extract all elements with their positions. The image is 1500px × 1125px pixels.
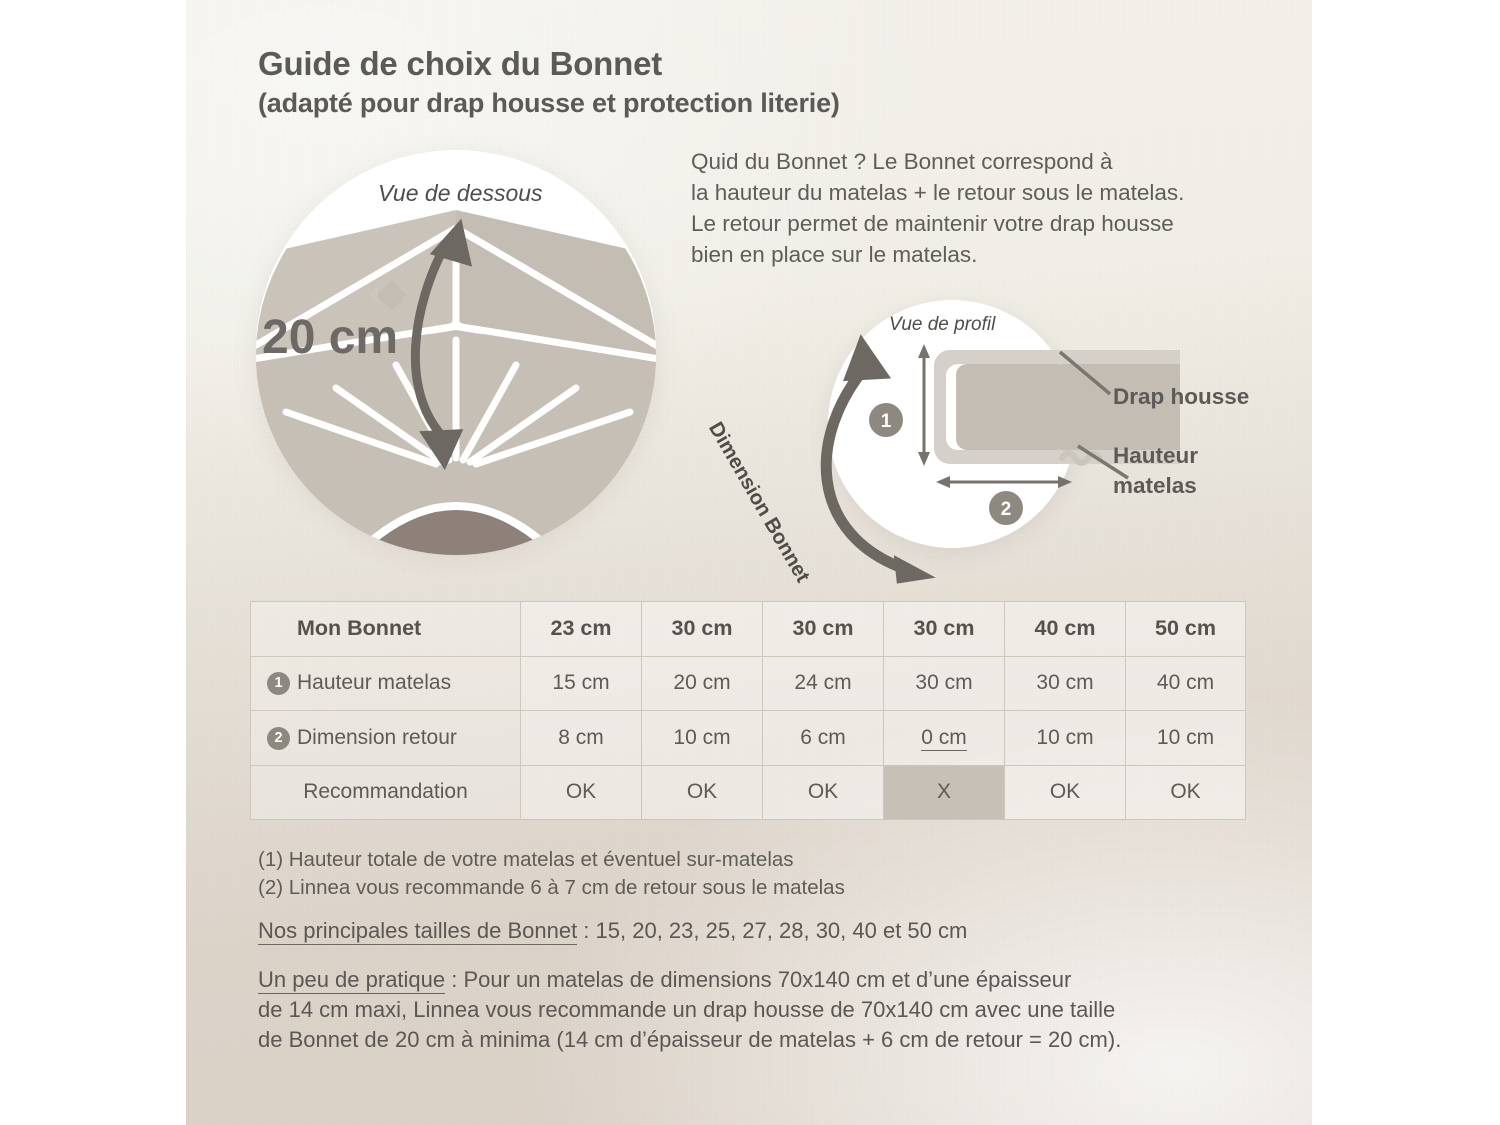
cell-bonnet-2: 30 cm: [642, 602, 763, 657]
bonnet-size-table: Mon Bonnet 23 cm 30 cm 30 cm 30 cm 40 cm…: [250, 601, 1246, 820]
cell-retour-1: 8 cm: [521, 711, 642, 766]
page-title: Guide de choix du Bonnet: [258, 45, 1058, 83]
practice-line-2: de 14 cm maxi, Linnea vous recommande un…: [258, 995, 1248, 1025]
practice-label: Un peu de pratique: [258, 967, 445, 994]
sizes-value: : 15, 20, 23, 25, 27, 28, 30, 40 et 50 c…: [577, 918, 967, 943]
cell-reco-1: OK: [521, 765, 642, 820]
cell-hauteur-5: 30 cm: [1005, 656, 1126, 711]
cell-bonnet-4: 30 cm: [884, 602, 1005, 657]
cell-hauteur-1: 15 cm: [521, 656, 642, 711]
cell-retour-6: 10 cm: [1126, 711, 1246, 766]
sizes-line: Nos principales tailles de Bonnet : 15, …: [258, 918, 967, 944]
cell-retour-5: 10 cm: [1005, 711, 1126, 766]
practice-block: Un peu de pratique : Pour un matelas de …: [258, 965, 1248, 1055]
callout-hauteur-matelas: Hauteur matelas: [1113, 441, 1198, 501]
cell-reco-6: OK: [1126, 765, 1246, 820]
cell-retour-2: 10 cm: [642, 711, 763, 766]
practice-line-1-rest: : Pour un matelas de dimensions 70x140 c…: [445, 967, 1071, 992]
intro-line-4: bien en place sur le matelas.: [691, 239, 1271, 270]
intro-line-2: la hauteur du matelas + le retour sous l…: [691, 177, 1271, 208]
cell-reco-4: X: [884, 765, 1005, 820]
cell-hauteur-6: 40 cm: [1126, 656, 1246, 711]
cell-bonnet-3: 30 cm: [763, 602, 884, 657]
row-label-recommandation: Recommandation: [251, 765, 521, 820]
practice-line-3: de Bonnet de 20 cm à minima (14 cm d’épa…: [258, 1025, 1248, 1055]
cell-retour-4: 0 cm: [884, 711, 1005, 766]
table-row: 2Dimension retour 8 cm 10 cm 6 cm 0 cm 1…: [251, 711, 1246, 766]
row-label-retour-text: Dimension retour: [297, 726, 457, 749]
row-marker-1: 1: [267, 672, 290, 695]
callout-drap-housse: Drap housse: [1113, 382, 1249, 412]
cell-reco-5: OK: [1005, 765, 1126, 820]
cell-reco-2: OK: [642, 765, 763, 820]
profile-marker-2-text: 2: [1001, 499, 1012, 520]
table-row: Recommandation OK OK OK X OK OK: [251, 765, 1246, 820]
sizes-label: Nos principales tailles de Bonnet: [258, 918, 577, 945]
cell-bonnet-5: 40 cm: [1005, 602, 1126, 657]
cell-bonnet-6: 50 cm: [1126, 602, 1246, 657]
row-label-mon-bonnet: Mon Bonnet: [251, 602, 521, 657]
intro-line-1: Quid du Bonnet ? Le Bonnet correspond à: [691, 146, 1271, 177]
row-label-hauteur-text: Hauteur matelas: [297, 671, 451, 694]
profile-marker-1-text: 1: [881, 411, 892, 432]
cell-hauteur-4: 30 cm: [884, 656, 1005, 711]
intro-paragraph: Quid du Bonnet ? Le Bonnet correspond à …: [691, 146, 1271, 270]
page-subtitle: (adapté pour drap housse et protection l…: [258, 88, 1078, 119]
callout-hauteur-line-1: Hauteur: [1113, 441, 1198, 471]
table-row: 1Hauteur matelas 15 cm 20 cm 24 cm 30 cm…: [251, 656, 1246, 711]
callout-hauteur-line-2: matelas: [1113, 471, 1198, 501]
cell-reco-3: OK: [763, 765, 884, 820]
practice-line-1: Un peu de pratique : Pour un matelas de …: [258, 965, 1248, 995]
intro-line-3: Le retour permet de maintenir votre drap…: [691, 208, 1271, 239]
cell-hauteur-3: 24 cm: [763, 656, 884, 711]
cell-bonnet-1: 23 cm: [521, 602, 642, 657]
footnote-1: (1) Hauteur totale de votre matelas et é…: [258, 846, 794, 874]
table-row: Mon Bonnet 23 cm 30 cm 30 cm 30 cm 40 cm…: [251, 602, 1246, 657]
cell-retour-4-text: 0 cm: [921, 726, 967, 751]
row-marker-2: 2: [267, 727, 290, 750]
row-label-dimension-retour: 2Dimension retour: [251, 711, 521, 766]
cell-hauteur-2: 20 cm: [642, 656, 763, 711]
measure-20cm: 20 cm: [262, 310, 398, 365]
profile-view-label: Vue de profil: [889, 314, 995, 336]
profile-view-illustration: 1 2: [760, 286, 1320, 616]
bottom-view-label: Vue de dessous: [378, 180, 543, 207]
footnote-2: (2) Linnea vous recommande 6 à 7 cm de r…: [258, 874, 845, 902]
infographic-root: Guide de choix du Bonnet (adapté pour dr…: [0, 0, 1500, 1125]
row-label-hauteur-matelas: 1Hauteur matelas: [251, 656, 521, 711]
cell-retour-3: 6 cm: [763, 711, 884, 766]
